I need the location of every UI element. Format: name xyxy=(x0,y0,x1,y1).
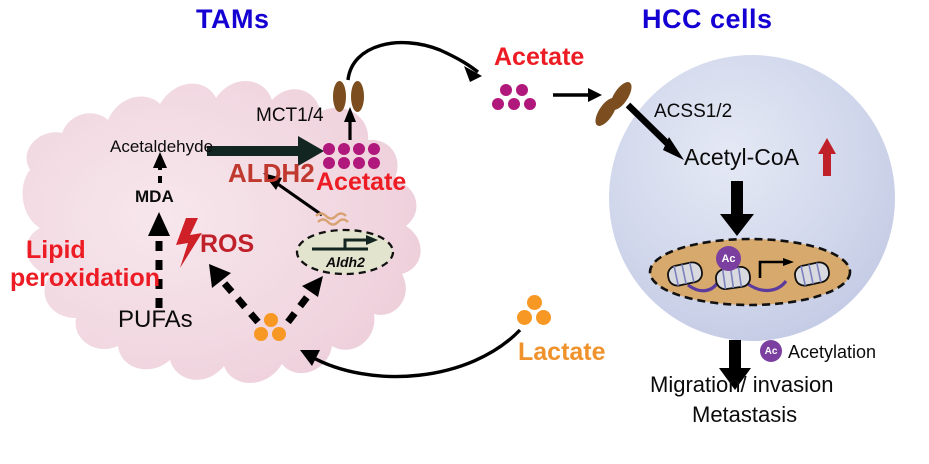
legend-ac-icon: Ac xyxy=(760,340,782,362)
acetate-dot xyxy=(368,143,380,155)
acetate-dot xyxy=(338,157,350,169)
mct-transporter-oval-right xyxy=(351,81,364,112)
figure-canvas: TAMs HCC cells Acetaldehyde MDA PUFAs Li… xyxy=(0,0,929,464)
label-acetyl-coa: Acetyl-CoA xyxy=(684,146,799,169)
label-acetaldehyde: Acetaldehyde xyxy=(110,138,213,155)
legend-acetylation-label: Acetylation xyxy=(788,343,876,361)
label-lipid-peroxidation-line1: Lipid xyxy=(26,238,86,263)
panel-title-hcc: HCC cells xyxy=(642,6,773,33)
acetate-dot xyxy=(353,157,365,169)
acetate-dot-extracellular xyxy=(524,98,536,110)
acetate-dot-extracellular xyxy=(500,84,512,96)
label-lactate: Lactate xyxy=(518,340,606,365)
acetylation-mark-icon: Ac xyxy=(716,246,741,271)
acetate-dot xyxy=(368,157,380,169)
label-aldh2-enzyme: ALDH2 xyxy=(228,160,315,186)
label-acetate-tam: Acetate xyxy=(316,170,406,195)
lactate-dot-extracellular xyxy=(536,310,551,325)
label-ros: ROS xyxy=(200,232,254,257)
label-outcome-line2: Metastasis xyxy=(692,404,797,426)
lactate-dot-extracellular xyxy=(527,295,542,310)
arrow-acetate-to-hcc xyxy=(348,43,478,80)
lactate-dot xyxy=(264,313,278,327)
acetate-dot xyxy=(323,157,335,169)
acetate-dot-extracellular xyxy=(516,84,528,96)
label-aldh2-gene: Aldh2 xyxy=(326,255,365,269)
acetate-dot xyxy=(323,143,335,155)
panel-title-tams: TAMs xyxy=(196,6,270,33)
acetate-dot-extracellular xyxy=(492,98,504,110)
acetate-dot xyxy=(338,143,350,155)
acetate-dot xyxy=(353,143,365,155)
label-mct: MCT1/4 xyxy=(256,106,324,125)
label-outcome-line1: Migration/ invasion xyxy=(650,374,833,396)
label-acss: ACSS1/2 xyxy=(654,102,732,121)
label-lipid-peroxidation-line2: peroxidation xyxy=(10,266,160,291)
lactate-dot-extracellular xyxy=(517,310,532,325)
label-acetate-extracellular: Acetate xyxy=(494,45,584,70)
label-pufas: PUFAs xyxy=(118,308,193,332)
lactate-dot xyxy=(254,327,268,341)
label-mda: MDA xyxy=(135,188,174,205)
mct-transporter-oval-left xyxy=(333,81,346,112)
arrowhead-acetate-into-hcc xyxy=(588,88,602,102)
lactate-dot xyxy=(272,327,286,341)
acetate-dot-extracellular xyxy=(508,98,520,110)
